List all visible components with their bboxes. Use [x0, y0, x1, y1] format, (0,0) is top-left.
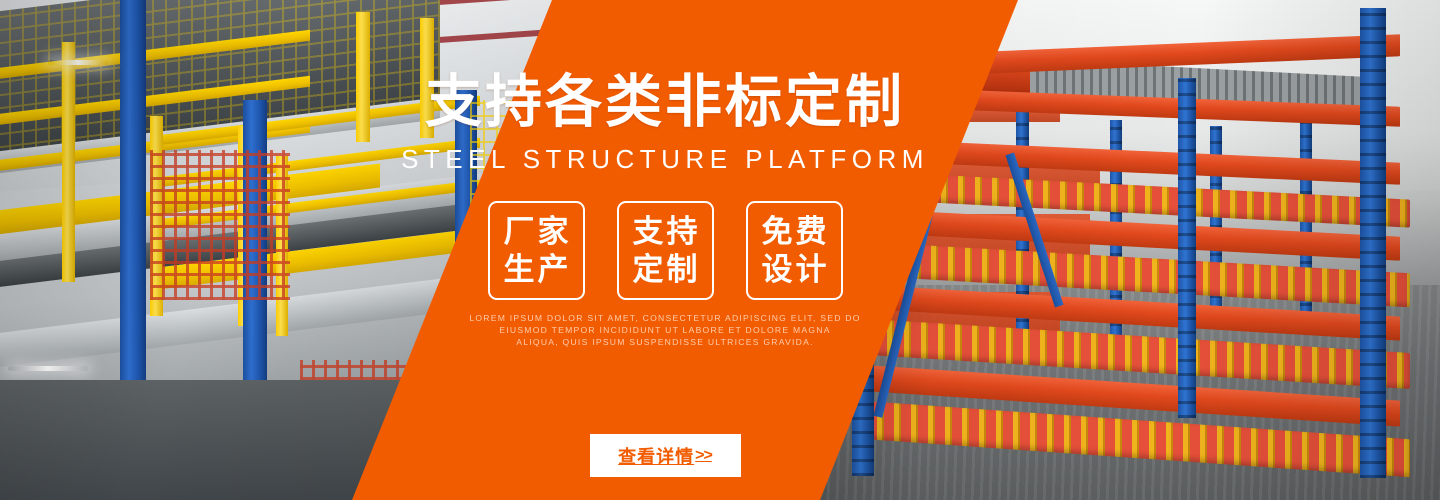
banner-subtitle: STEEL STRUCTURE PLATFORM — [0, 146, 1385, 172]
feature-badge-list: 厂家 生产 支持 定制 免费 设计 — [0, 201, 1385, 300]
feature-badge-manufacturer[interactable]: 厂家 生产 — [488, 201, 585, 300]
cta-container: 查看详情 >> — [0, 434, 1385, 477]
badge-line-2: 生产 — [501, 251, 572, 289]
placeholder-line-1: LOREM IPSUM DOLOR SIT AMET, CONSECTETUR … — [0, 312, 1385, 324]
placeholder-line-2: EIUSMOD TEMPOR INCIDIDUNT UT LABORE ET D… — [0, 324, 1385, 336]
badge-line-1: 支持 — [630, 213, 701, 251]
badge-line-2: 定制 — [630, 251, 701, 289]
chevron-right-icon: >> — [695, 447, 712, 465]
promo-banner: 支持各类非标定制 STEEL STRUCTURE PLATFORM 厂家 生产 … — [0, 0, 1440, 500]
feature-badge-customization[interactable]: 支持 定制 — [617, 201, 714, 300]
cta-label: 查看详情 — [618, 443, 694, 469]
badge-line-1: 免费 — [759, 213, 830, 251]
banner-title: 支持各类非标定制 — [0, 74, 1385, 131]
badge-line-1: 厂家 — [501, 213, 572, 251]
banner-content: 支持各类非标定制 STEEL STRUCTURE PLATFORM 厂家 生产 … — [0, 0, 1440, 500]
view-details-button[interactable]: 查看详情 >> — [590, 434, 741, 477]
feature-badge-free-design[interactable]: 免费 设计 — [746, 201, 843, 300]
placeholder-line-3: ALIQUA, QUIS IPSUM SUSPENDISSE ULTRICES … — [0, 336, 1385, 348]
placeholder-paragraph: LOREM IPSUM DOLOR SIT AMET, CONSECTETUR … — [0, 312, 1385, 349]
badge-line-2: 设计 — [759, 251, 830, 289]
